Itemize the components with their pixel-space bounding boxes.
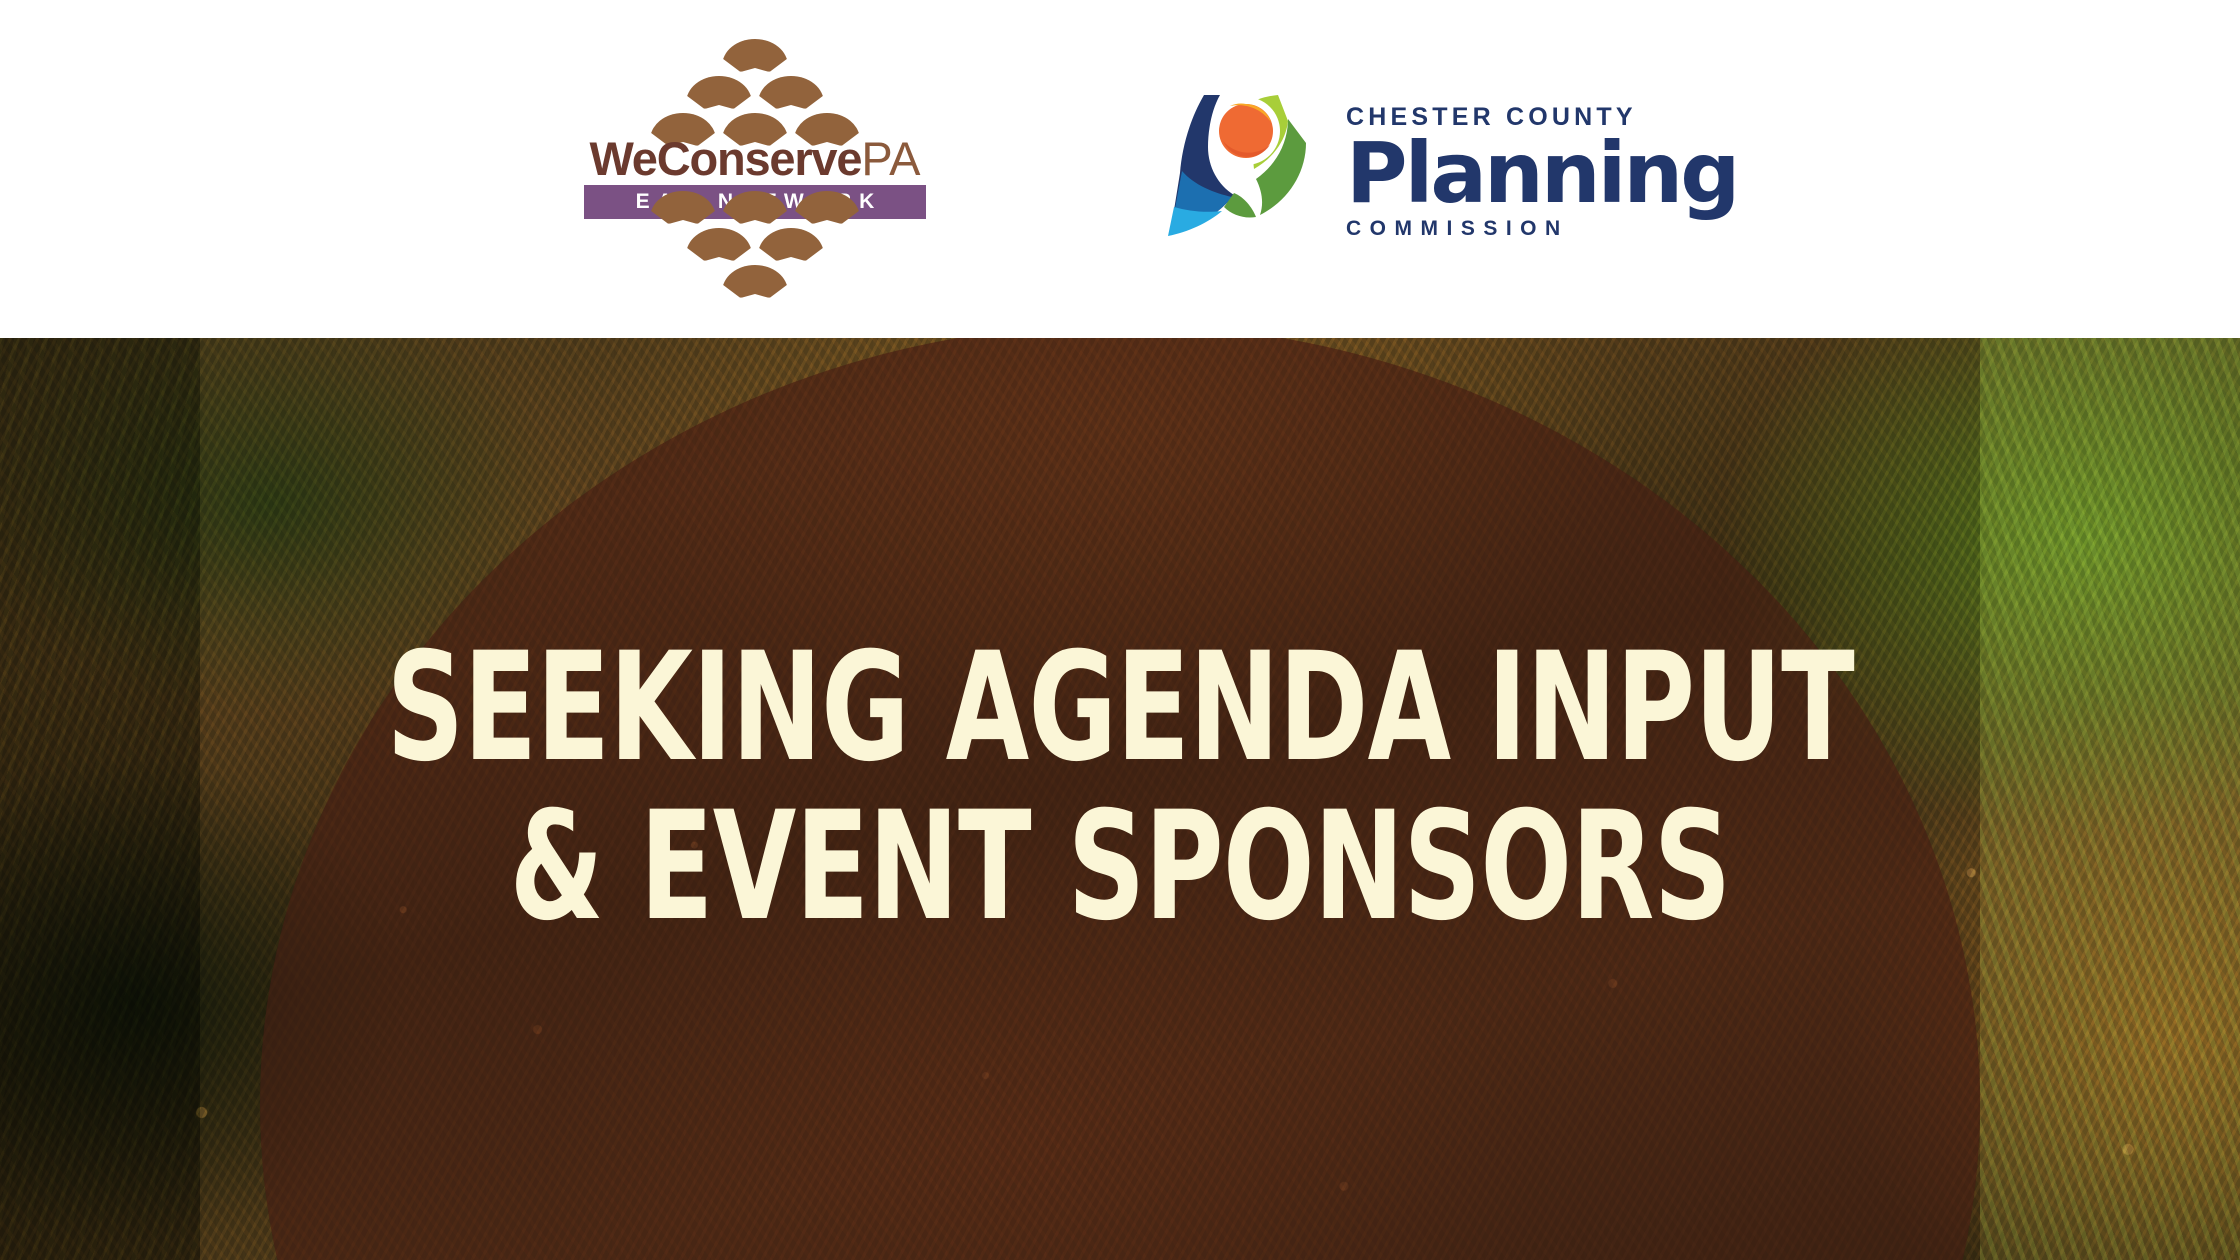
hero-banner: SEEKING AGENDA INPUT & EVENT SPONSORS [0, 338, 2240, 1260]
chester-county-planning-commission-logo[interactable]: CHESTER COUNTY Planning COMMISSION [1160, 82, 1660, 257]
map-pin-leaf-icon [1160, 89, 1340, 249]
pinecone-scale-icon [686, 228, 752, 261]
scale-row [580, 191, 930, 224]
wordmark-weconserve: WeConserve [589, 132, 861, 185]
scale-row [580, 39, 930, 72]
weconserve-pa-wordmark: WeConservePA [580, 135, 930, 182]
headline-line-1: SEEKING AGENDA INPUT [386, 629, 1854, 788]
pinecone-scale-icon [794, 191, 860, 224]
logo-row: WeConservePA EAC NETWORK [0, 0, 2240, 338]
pinecone-scale-icon [686, 76, 752, 109]
weconserve-pa-eac-network-logo[interactable]: WeConservePA EAC NETWORK [580, 39, 930, 299]
scale-row [580, 265, 930, 298]
ccpc-wordmark: CHESTER COUNTY Planning COMMISSION [1346, 99, 1737, 239]
pinecone-scale-icon [722, 39, 788, 72]
scale-row [580, 228, 930, 261]
header-bar: WeConservePA EAC NETWORK [0, 0, 2240, 338]
pinecone-scale-icon [650, 191, 716, 224]
headline-block: SEEKING AGENDA INPUT & EVENT SPONSORS [0, 338, 2240, 1260]
pinecone-scale-icon [722, 191, 788, 224]
scale-row [580, 76, 930, 109]
ccpc-line-planning: Planning [1346, 132, 1737, 214]
pinecone-scale-icon [758, 228, 824, 261]
pinecone-scales-top-icon [580, 39, 930, 147]
flyer-page: WeConservePA EAC NETWORK [0, 0, 2240, 1260]
pinecone-scale-icon [722, 265, 788, 298]
headline-line-2: & EVENT SPONSORS [510, 788, 1731, 947]
pinecone-scales-bottom-icon [580, 191, 930, 299]
wordmark-pa: PA [861, 132, 920, 185]
pinecone-scale-icon [758, 76, 824, 109]
